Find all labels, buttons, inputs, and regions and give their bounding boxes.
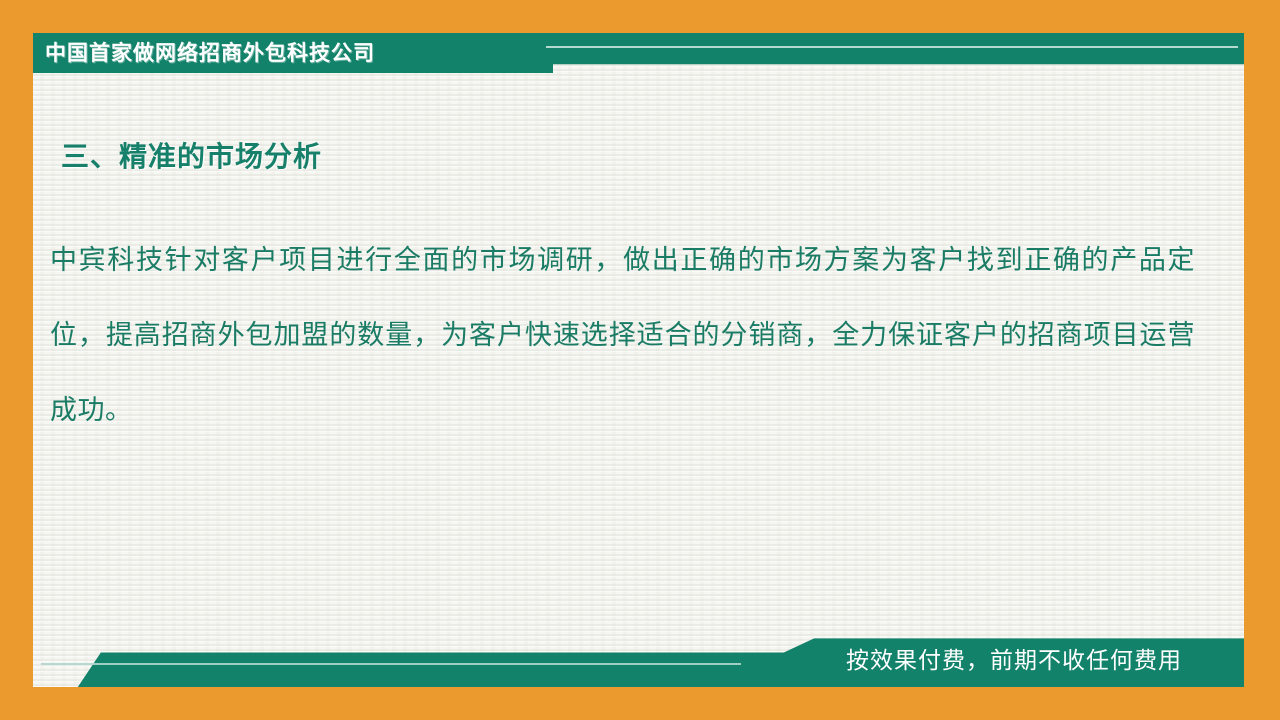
header-divider-line <box>546 46 1238 48</box>
footer-divider-line <box>41 663 741 665</box>
header-title: 中国首家做网络招商外包科技公司 <box>45 34 375 72</box>
footer-tagline: 按效果付费，前期不收任何费用 <box>846 645 1182 678</box>
section-heading: 三、精准的市场分析 <box>61 135 322 175</box>
body-paragraph: 中宾科技针对客户项目进行全面的市场调研，做出正确的市场方案为客户找到正确的产品定… <box>50 223 1195 448</box>
main-content-area: 三、精准的市场分析 中宾科技针对客户项目进行全面的市场调研，做出正确的市场方案为… <box>33 73 1244 633</box>
slide-canvas: 中国首家做网络招商外包科技公司 三、精准的市场分析 中宾科技针对客户项目进行全面… <box>0 0 1280 720</box>
